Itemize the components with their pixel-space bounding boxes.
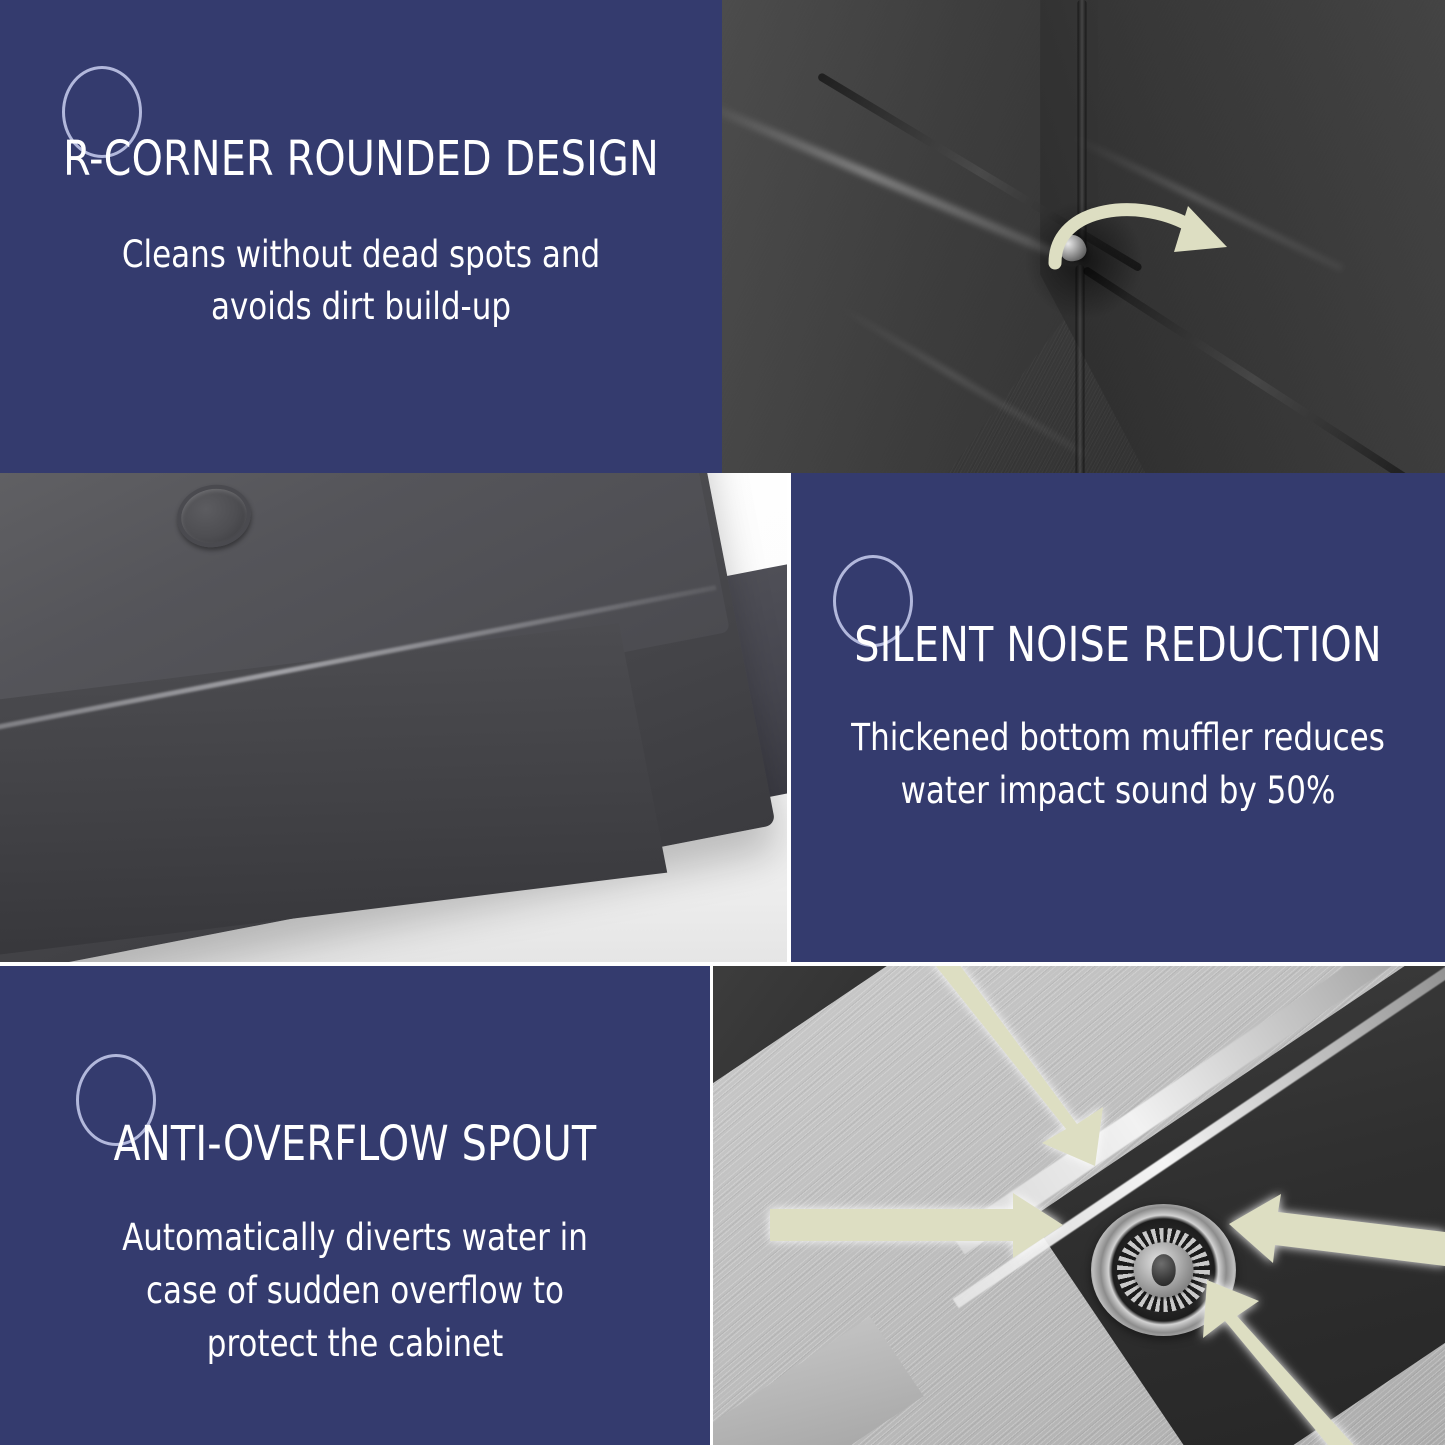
sink-underside-photo [0, 473, 787, 962]
feature-title-anti-overflow: ANTI-OVERFLOW SPOUT [28, 1116, 681, 1172]
infographic-board: R-CORNER ROUNDED DESIGN Cleans without d… [0, 0, 1445, 1445]
corner-shadow [1024, 200, 1144, 320]
sink-basin-drain-photo [713, 966, 1445, 1445]
feature-panel-silent-noise: SILENT NOISE REDUCTION Thickened bottom … [791, 473, 1445, 962]
drain-strainer-icon [1091, 1204, 1236, 1336]
subtitle-line: avoids dirt build-up [25, 281, 696, 333]
subtitle-line: protect the cabinet [25, 1317, 685, 1370]
subtitle-line: water impact sound by 50% [814, 764, 1422, 817]
feature-subtitle-silent-noise: Thickened bottom muffler reduces water i… [814, 711, 1422, 817]
sink-corner-photo [722, 0, 1445, 473]
feature-panel-anti-overflow: ANTI-OVERFLOW SPOUT Automatically divert… [0, 966, 710, 1445]
subtitle-line: Cleans without dead spots and [25, 229, 696, 281]
feature-subtitle-r-corner: Cleans without dead spots and avoids dir… [25, 229, 696, 333]
feature-title-silent-noise: SILENT NOISE REDUCTION [817, 617, 1419, 673]
drain-pin [1151, 1254, 1176, 1286]
subtitle-line: Thickened bottom muffler reduces [814, 711, 1422, 764]
subtitle-line: case of sudden overflow to [25, 1264, 685, 1317]
feature-title-r-corner: R-CORNER ROUNDED DESIGN [29, 131, 693, 187]
subtitle-line: Automatically diverts water in [25, 1211, 685, 1264]
feature-subtitle-anti-overflow: Automatically diverts water in case of s… [25, 1211, 685, 1370]
feature-panel-r-corner: R-CORNER ROUNDED DESIGN Cleans without d… [0, 0, 722, 473]
